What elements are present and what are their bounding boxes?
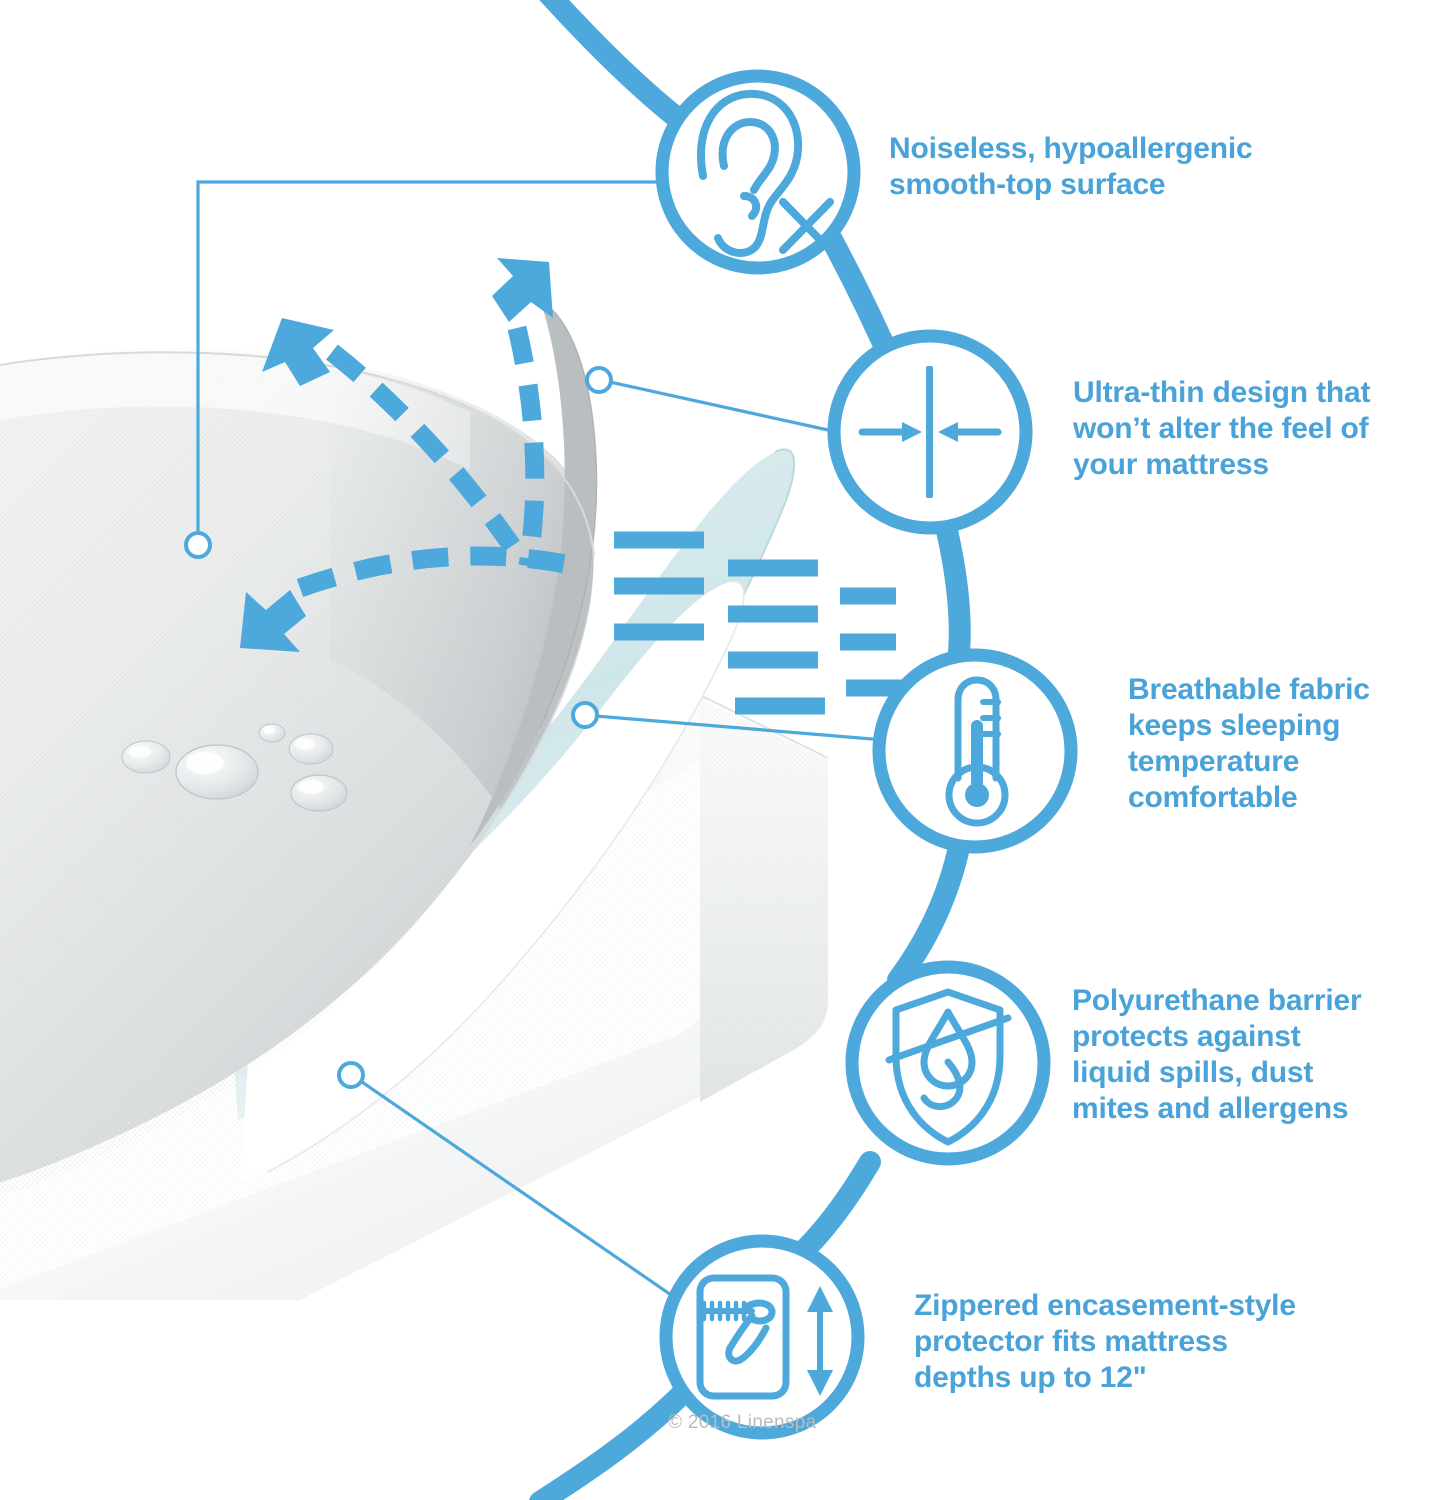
feature-label-breathable: Breathable fabric keeps sleeping tempera… (1128, 672, 1428, 816)
feature-badge-ultra-thin[interactable] (834, 336, 1026, 528)
feature-badge-noiseless[interactable] (662, 76, 854, 268)
feature-label-ultra-thin: Ultra-thin design that won’t alter the f… (1073, 375, 1429, 483)
feature-badge-zippered[interactable] (666, 1241, 858, 1433)
feature-badge-breathable[interactable] (879, 655, 1071, 847)
infographic-canvas: Noiseless, hypoallergenic smooth-top sur… (0, 0, 1429, 1500)
feature-label-zippered: Zippered encasement-style protector fits… (914, 1288, 1414, 1396)
feature-label-polyurethane: Polyurethane barrier protects against li… (1072, 983, 1429, 1127)
feature-badge-polyurethane[interactable] (852, 967, 1044, 1159)
copyright-notice: © 2016 Linenspa (668, 1412, 816, 1434)
feature-label-noiseless: Noiseless, hypoallergenic smooth-top sur… (889, 131, 1319, 203)
